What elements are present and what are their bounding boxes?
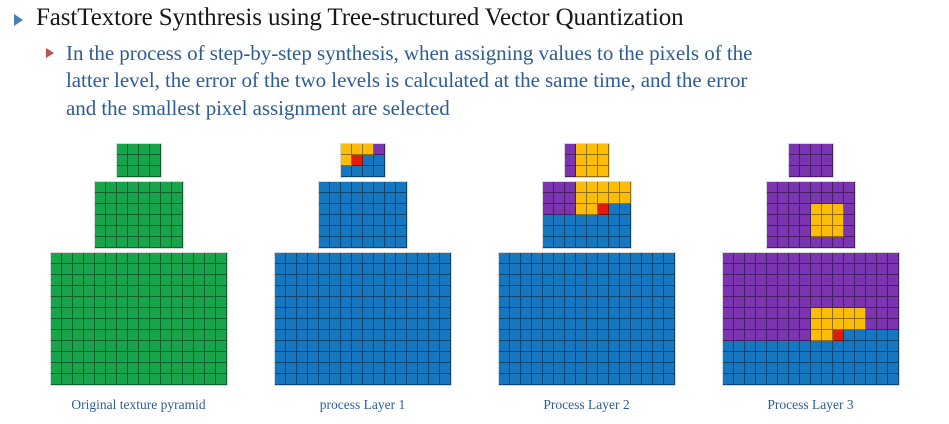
pixel-cell (822, 144, 833, 155)
pixel-cell (73, 286, 84, 297)
pixel-cell (161, 341, 172, 352)
pixel-cell (576, 330, 587, 341)
pixel-cell (532, 253, 543, 264)
pixel-cell (128, 193, 139, 204)
pixel-cell (62, 286, 73, 297)
pixel-cell (341, 155, 352, 166)
pixel-cell (554, 275, 565, 286)
pixel-cell (319, 253, 330, 264)
pixel-cell (789, 374, 800, 385)
pixel-cell (833, 352, 844, 363)
pixel-cell (844, 193, 855, 204)
pixel-cell (275, 330, 286, 341)
pixel-cell (341, 264, 352, 275)
pixel-cell (205, 352, 216, 363)
pixel-cell (800, 226, 811, 237)
pixel-cell (150, 226, 161, 237)
pixel-cell (297, 253, 308, 264)
pixel-cell (172, 308, 183, 319)
pixel-cell (363, 237, 374, 248)
pixel-cell (150, 215, 161, 226)
pixel-cell (609, 319, 620, 330)
pixel-cell (598, 341, 609, 352)
pixel-cell (565, 363, 576, 374)
pixel-cell (341, 193, 352, 204)
pixel-cell (532, 341, 543, 352)
pixel-cell (587, 264, 598, 275)
pixel-cell (363, 253, 374, 264)
pixel-cell (598, 193, 609, 204)
pixel-cell (161, 226, 172, 237)
pixel-cell (352, 204, 363, 215)
pixel-cell (418, 374, 429, 385)
pixel-cell (330, 308, 341, 319)
pixel-cell (194, 363, 205, 374)
pixel-cell (789, 264, 800, 275)
pixel-cell (565, 308, 576, 319)
pixel-cell (183, 341, 194, 352)
pixel-cell (161, 253, 172, 264)
pixel-cell (598, 374, 609, 385)
pixel-cell (330, 182, 341, 193)
pixel-cell (587, 297, 598, 308)
pixel-cell (598, 215, 609, 226)
pixel-cell (620, 182, 631, 193)
pixel-cell (139, 275, 150, 286)
pyramid (50, 160, 228, 386)
pixel-cell (117, 144, 128, 155)
pixel-cell (576, 144, 587, 155)
pyramid-level (274, 252, 452, 386)
pixel-cell (642, 253, 653, 264)
pixel-cell (341, 308, 352, 319)
pixel-cell (385, 319, 396, 330)
pixel-cell (789, 144, 800, 155)
pixel-cell (183, 330, 194, 341)
pixel-cell (543, 330, 554, 341)
pixel-cell (205, 264, 216, 275)
pixel-cell (767, 226, 778, 237)
pixel-cell (800, 352, 811, 363)
pixel-cell (128, 253, 139, 264)
pixel-cell (84, 319, 95, 330)
pixel-cell (576, 155, 587, 166)
pixel-cell (620, 374, 631, 385)
pixel-cell (128, 374, 139, 385)
pixel-cell (576, 286, 587, 297)
pixel-cell (499, 341, 510, 352)
pixel-cell (587, 155, 598, 166)
pixel-cell (51, 330, 62, 341)
pixel-cell (330, 204, 341, 215)
pixel-cell (352, 155, 363, 166)
pixel-cell (95, 374, 106, 385)
pixel-cell (385, 182, 396, 193)
pixel-cell (598, 297, 609, 308)
pixel-cell (767, 352, 778, 363)
pixel-cell (822, 363, 833, 374)
pixel-cell (822, 226, 833, 237)
pixel-cell (789, 275, 800, 286)
pixel-cell (521, 352, 532, 363)
pixel-cell (363, 264, 374, 275)
pyramid-level (788, 143, 834, 178)
pixel-cell (598, 166, 609, 177)
pixel-cell (833, 374, 844, 385)
pixel-cell (734, 297, 745, 308)
pixel-cell (855, 286, 866, 297)
pixel-cell (385, 204, 396, 215)
pixel-cell (587, 144, 598, 155)
pixel-cell (756, 341, 767, 352)
pixel-cell (554, 204, 565, 215)
pixel-cell (778, 286, 789, 297)
pixel-cell (117, 275, 128, 286)
pixel-cell (800, 204, 811, 215)
pixel-cell (341, 226, 352, 237)
pixel-cell (609, 264, 620, 275)
pixel-cell (565, 215, 576, 226)
pixel-cell (407, 297, 418, 308)
pixel-cell (117, 253, 128, 264)
pixel-cell (286, 374, 297, 385)
pixel-cell (587, 253, 598, 264)
pixel-cell (139, 204, 150, 215)
pixel-cell (286, 319, 297, 330)
pixel-cell (888, 253, 899, 264)
pixel-cell (620, 264, 631, 275)
pixel-cell (822, 330, 833, 341)
pixel-cell (789, 166, 800, 177)
pixel-cell (139, 182, 150, 193)
pixel-cell (297, 341, 308, 352)
pixel-cell (172, 286, 183, 297)
pixel-cell (833, 253, 844, 264)
pixel-cell (609, 363, 620, 374)
pixel-cell (363, 341, 374, 352)
pixel-cell (877, 286, 888, 297)
pixel-cell (139, 215, 150, 226)
pixel-cell (150, 182, 161, 193)
pixel-cell (800, 182, 811, 193)
pixel-cell (888, 374, 899, 385)
pixel-cell (734, 275, 745, 286)
pixel-cell (855, 352, 866, 363)
pixel-cell (576, 215, 587, 226)
pixel-cell (642, 374, 653, 385)
pixel-cell (297, 363, 308, 374)
pixel-cell (161, 374, 172, 385)
pixel-cell (216, 264, 227, 275)
pixel-cell (286, 264, 297, 275)
pixel-cell (341, 341, 352, 352)
pixel-cell (95, 193, 106, 204)
pixel-cell (877, 352, 888, 363)
pixel-cell (833, 286, 844, 297)
pixel-cell (756, 363, 767, 374)
pixel-cell (396, 330, 407, 341)
pixel-cell (319, 193, 330, 204)
pixel-cell (297, 374, 308, 385)
pixel-cell (778, 352, 789, 363)
pixel-cell (183, 297, 194, 308)
pixel-cell (745, 374, 756, 385)
pixel-cell (172, 330, 183, 341)
pixel-cell (631, 275, 642, 286)
pixel-cell (128, 363, 139, 374)
pixel-cell (855, 319, 866, 330)
pixel-cell (587, 182, 598, 193)
pixel-cell (84, 297, 95, 308)
pixel-cell (216, 253, 227, 264)
pixel-cell (396, 275, 407, 286)
pixel-cell (73, 374, 84, 385)
pixel-cell (723, 308, 734, 319)
pixel-cell (587, 352, 598, 363)
pixel-cell (150, 297, 161, 308)
pixel-cell (330, 264, 341, 275)
pixel-cell (822, 341, 833, 352)
pixel-cell (150, 253, 161, 264)
pixel-cell (576, 319, 587, 330)
pixel-cell (653, 253, 664, 264)
pixel-cell (319, 363, 330, 374)
pixel-cell (866, 374, 877, 385)
pixel-cell (106, 363, 117, 374)
pixel-cell (161, 193, 172, 204)
pixel-cell (642, 286, 653, 297)
pixel-cell (510, 286, 521, 297)
pixel-cell (800, 363, 811, 374)
pixel-cell (51, 341, 62, 352)
pixel-cell (106, 352, 117, 363)
pixel-cell (62, 363, 73, 374)
pixel-cell (811, 275, 822, 286)
pixel-cell (756, 253, 767, 264)
pixel-cell (664, 341, 675, 352)
pixel-cell (631, 253, 642, 264)
pixel-cell (352, 253, 363, 264)
pixel-cell (73, 341, 84, 352)
pixel-cell (554, 352, 565, 363)
pixel-cell (341, 352, 352, 363)
pixel-cell (767, 253, 778, 264)
pixel-cell (554, 237, 565, 248)
pyramid-level (116, 143, 162, 178)
pixel-cell (576, 226, 587, 237)
pixel-cell (723, 275, 734, 286)
pixel-cell (374, 144, 385, 155)
pixel-cell (418, 352, 429, 363)
pixel-cell (543, 193, 554, 204)
pixel-cell (631, 330, 642, 341)
pixel-cell (363, 363, 374, 374)
pixel-cell (789, 297, 800, 308)
pixel-cell (106, 319, 117, 330)
pixel-cell (565, 374, 576, 385)
pixel-cell (216, 319, 227, 330)
pixel-cell (106, 341, 117, 352)
pixel-cell (172, 215, 183, 226)
pixel-cell (576, 297, 587, 308)
pixel-cell (620, 341, 631, 352)
pixel-cell (286, 363, 297, 374)
pixel-cell (609, 204, 620, 215)
pixel-cell (642, 297, 653, 308)
pixel-cell (543, 264, 554, 275)
pixel-cell (587, 308, 598, 319)
pixel-cell (499, 297, 510, 308)
pixel-cell (510, 352, 521, 363)
pixel-cell (429, 286, 440, 297)
pixel-cell (330, 193, 341, 204)
pixel-cell (609, 374, 620, 385)
pixel-cell (866, 319, 877, 330)
pixel-cell (117, 352, 128, 363)
pixel-cell (510, 264, 521, 275)
pixel-cell (84, 352, 95, 363)
pixel-cell (418, 308, 429, 319)
pixel-cell (877, 308, 888, 319)
pixel-cell (789, 182, 800, 193)
pixel-cell (642, 308, 653, 319)
pixel-cell (95, 319, 106, 330)
pixel-cell (286, 275, 297, 286)
pixel-cell (767, 264, 778, 275)
pixel-cell (756, 352, 767, 363)
pixel-cell (161, 204, 172, 215)
pixel-cell (128, 286, 139, 297)
pixel-cell (275, 352, 286, 363)
pyramid-caption: Process Layer 3 (722, 397, 900, 413)
pixel-cell (150, 193, 161, 204)
pixel-cell (631, 341, 642, 352)
pixel-cell (598, 308, 609, 319)
pixel-cell (642, 275, 653, 286)
pixel-cell (183, 286, 194, 297)
pixel-cell (866, 363, 877, 374)
pixel-cell (385, 341, 396, 352)
pixel-cell (128, 182, 139, 193)
pixel-cell (521, 253, 532, 264)
pixel-cell (855, 374, 866, 385)
pixel-cell (877, 297, 888, 308)
pixel-cell (833, 264, 844, 275)
pixel-cell (554, 215, 565, 226)
pixel-cell (51, 374, 62, 385)
pixel-cell (106, 275, 117, 286)
pixel-cell (84, 264, 95, 275)
pixel-cell (598, 144, 609, 155)
pixel-cell (767, 275, 778, 286)
pixel-cell (576, 237, 587, 248)
pixel-cell (172, 275, 183, 286)
pixel-cell (363, 204, 374, 215)
pixel-cell (139, 226, 150, 237)
pixel-cell (429, 374, 440, 385)
pixel-cell (554, 182, 565, 193)
pixel-cell (800, 237, 811, 248)
pixel-cell (598, 204, 609, 215)
pixel-cell (789, 253, 800, 264)
pyramid-caption: Process Layer 2 (498, 397, 676, 413)
pixel-cell (396, 308, 407, 319)
pixel-cell (150, 308, 161, 319)
pixel-cell (822, 374, 833, 385)
pixel-cell (216, 308, 227, 319)
pixel-cell (833, 363, 844, 374)
pixel-cell (51, 264, 62, 275)
pixel-cell (609, 253, 620, 264)
pixel-cell (598, 264, 609, 275)
pixel-cell (51, 275, 62, 286)
pixel-cell (106, 193, 117, 204)
pixel-cell (532, 363, 543, 374)
pixel-cell (352, 275, 363, 286)
pixel-cell (150, 155, 161, 166)
pixel-cell (756, 286, 767, 297)
pixel-cell (587, 215, 598, 226)
pixel-cell (51, 308, 62, 319)
pixel-cell (554, 226, 565, 237)
pixel-cell (620, 193, 631, 204)
pixel-cell (745, 253, 756, 264)
pixel-cell (330, 275, 341, 286)
pixel-cell (598, 319, 609, 330)
pixel-cell (811, 155, 822, 166)
pixel-cell (308, 330, 319, 341)
pixel-cell (84, 363, 95, 374)
pixel-cell (499, 286, 510, 297)
pixel-cell (172, 253, 183, 264)
pixel-cell (543, 275, 554, 286)
pixel-cell (205, 253, 216, 264)
pixel-cell (888, 286, 899, 297)
pixel-cell (150, 144, 161, 155)
pixel-cell (385, 193, 396, 204)
pixel-cell (609, 215, 620, 226)
pixel-cell (565, 264, 576, 275)
pixel-cell (150, 204, 161, 215)
pixel-cell (609, 297, 620, 308)
pixel-cell (407, 319, 418, 330)
pixel-cell (532, 264, 543, 275)
pixel-cell (330, 226, 341, 237)
pixel-cell (521, 374, 532, 385)
pixel-cell (811, 308, 822, 319)
pixel-cell (161, 330, 172, 341)
pixel-cell (385, 264, 396, 275)
pixel-cell (844, 215, 855, 226)
pixel-cell (499, 330, 510, 341)
pixel-cell (297, 297, 308, 308)
pixel-cell (565, 341, 576, 352)
pixel-cell (374, 297, 385, 308)
pixel-cell (554, 286, 565, 297)
pixel-cell (440, 363, 451, 374)
pixel-cell (888, 330, 899, 341)
pixel-cell (734, 363, 745, 374)
pixel-cell (341, 253, 352, 264)
pixel-cell (62, 374, 73, 385)
triangle-right-icon (46, 48, 54, 58)
pixel-cell (833, 215, 844, 226)
pixel-cell (565, 204, 576, 215)
pixel-cell (844, 297, 855, 308)
pixel-cell (543, 237, 554, 248)
pixel-cell (543, 308, 554, 319)
pixel-cell (95, 182, 106, 193)
